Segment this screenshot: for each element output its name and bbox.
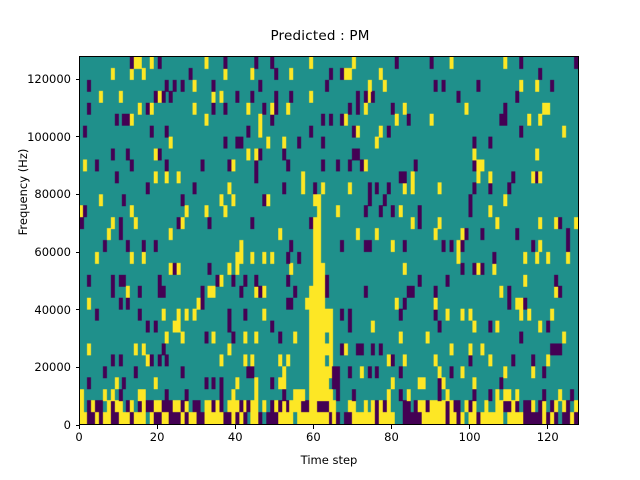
x-tick-label: 0 [49,430,109,444]
x-tick-mark [235,425,236,429]
x-tick-mark [469,425,470,429]
y-tick-label: 60000 [0,245,71,259]
x-tick-label: 20 [127,430,187,444]
heatmap-canvas [80,57,578,424]
x-tick-mark [391,425,392,429]
y-tick-label: 80000 [0,187,71,201]
y-tick-label: 20000 [0,360,71,374]
x-tick-label: 80 [362,430,422,444]
x-tick-mark [79,425,80,429]
y-tick-label: 100000 [0,130,71,144]
y-tick-label: 40000 [0,303,71,317]
x-tick-mark [313,425,314,429]
page-title: Predicted : PM [0,28,640,44]
x-tick-label: 100 [440,430,500,444]
x-tick-label: 120 [518,430,578,444]
x-tick-mark [547,425,548,429]
heatmap-axes[interactable] [79,56,579,425]
x-tick-label: 60 [283,430,343,444]
y-tick-label: 0 [0,418,71,432]
x-tick-mark [157,425,158,429]
matplotlib-figure: Predicted : PM 0200004000060000800001000… [0,0,640,480]
y-tick-label: 120000 [0,72,71,86]
x-tick-label: 40 [205,430,265,444]
x-axis-label: Time step [79,453,579,467]
y-axis-label: Frequency (Hz) [16,82,30,302]
